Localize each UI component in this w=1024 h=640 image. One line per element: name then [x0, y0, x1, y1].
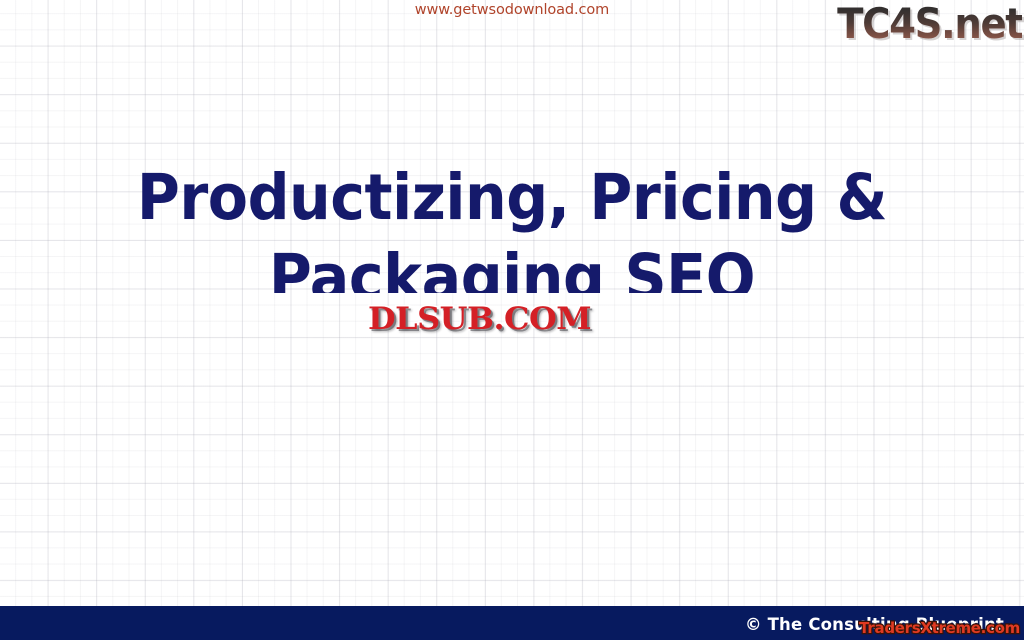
slide-title-container: Productizing, Pricing & Packaging SEO — [0, 158, 1024, 293]
dlsub-watermark: DLSUB.COM — [368, 299, 591, 339]
presentation-slide: www.getwsodownload.com TC4S.net TC4S.net… — [0, 0, 1024, 640]
tradersxtreme-watermark: TradersXtreme.com — [859, 618, 1020, 638]
slide-title: Productizing, Pricing & Packaging SEO — [36, 158, 988, 293]
slide-title-line-1: Productizing, Pricing & — [137, 161, 887, 234]
slide-title-line-2: Packaging SEO — [269, 241, 755, 293]
brand-logo-text: TC4S.net — [837, 0, 1022, 50]
